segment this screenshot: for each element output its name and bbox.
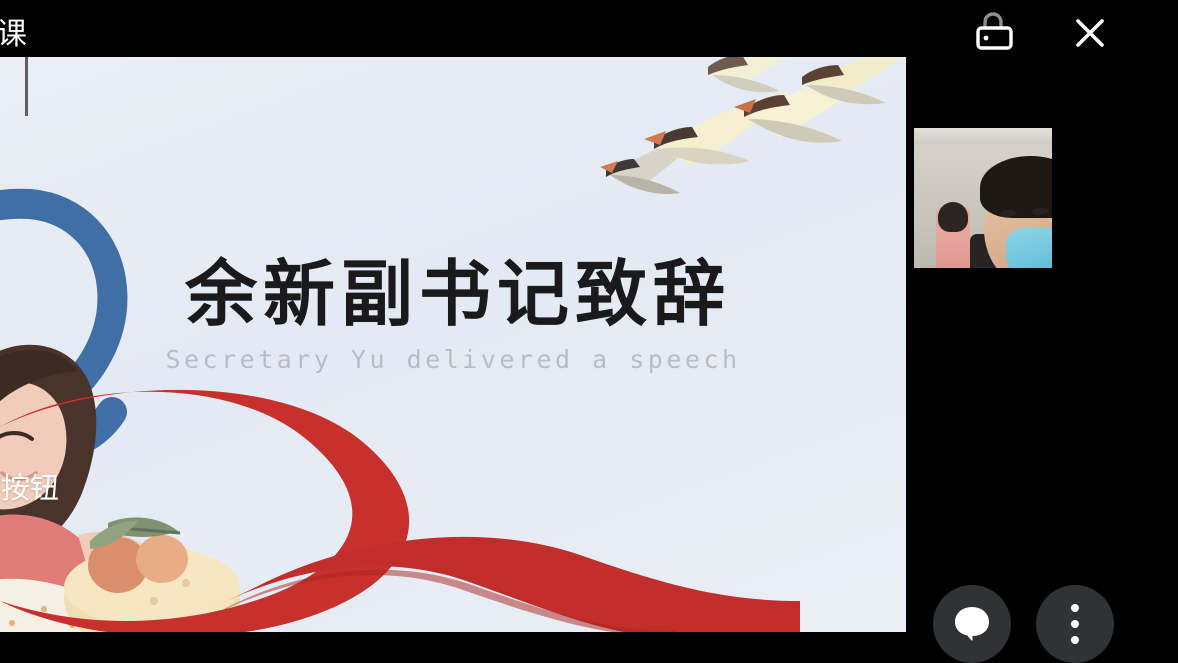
video-ceiling [914, 128, 1052, 144]
close-button[interactable] [1058, 3, 1122, 63]
slide-canvas: 余新副书记致辞 Secretary Yu delivered a speech … [0, 57, 906, 632]
screen-lock-button[interactable] [958, 3, 1030, 63]
video-user-face-mask [1006, 228, 1052, 268]
self-view-frame [914, 128, 1052, 268]
flying-swallows-icon [600, 57, 906, 247]
shared-screen-caption: 的按钮 [0, 465, 59, 507]
self-view-video[interactable] [914, 128, 1052, 268]
slide-cursor-mark [25, 57, 28, 116]
dot-3 [1071, 636, 1079, 644]
close-icon [1070, 13, 1110, 53]
screen-share-area[interactable]: 余新副书记致辞 Secretary Yu delivered a speech … [0, 57, 906, 632]
slide-title: 余新副书记致辞 [0, 257, 906, 333]
blue-brush-circle-decoration [0, 182, 160, 482]
screen-lock-rotation-icon [970, 12, 1018, 54]
more-vertical-icon [1071, 604, 1079, 644]
meeting-screen: 余新副书记致辞 Secretary Yu delivered a speech … [0, 0, 1178, 662]
class-title: 播课 [0, 9, 28, 53]
dot-1 [1071, 604, 1079, 612]
slide-text-block: 余新副书记致辞 Secretary Yu delivered a speech [0, 257, 906, 374]
chat-button[interactable] [933, 585, 1011, 663]
slide-subtitle: Secretary Yu delivered a speech [0, 345, 906, 374]
top-bar: 播课 [0, 0, 1178, 57]
dot-2 [1071, 620, 1079, 628]
video-background-person-hair [938, 202, 968, 232]
more-options-button[interactable] [1036, 585, 1114, 663]
red-ribbon-decoration [0, 387, 800, 632]
chat-bubble-icon [952, 605, 992, 643]
